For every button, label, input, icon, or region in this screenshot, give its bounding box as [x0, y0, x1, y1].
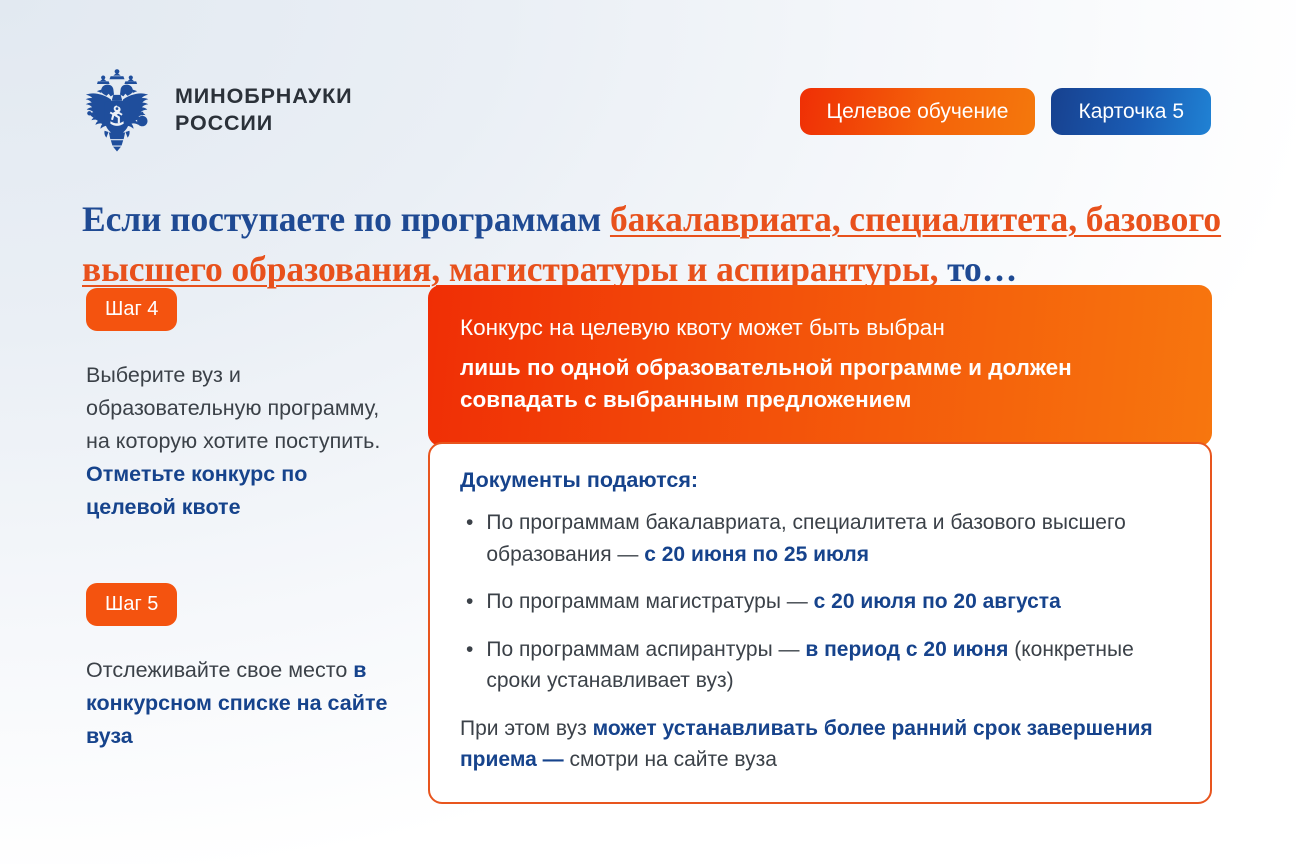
list-item-bold: с 20 июля по 20 августа	[814, 590, 1061, 613]
list-item-text: По программам бакалавриата, специалитета…	[486, 507, 1180, 570]
list-item-text: По программам магистратуры — с 20 июля п…	[486, 586, 1060, 618]
step-5-block: Шаг 5 Отслеживайте свое место в конкурсн…	[86, 583, 391, 753]
documents-footer: При этом вуз может устанавливать более р…	[460, 713, 1180, 776]
step-4-badge: Шаг 4	[86, 288, 177, 331]
list-item-bold: в период с 20 июня	[805, 638, 1008, 661]
steps-column: Шаг 4 Выберите вуз и образовательную про…	[86, 288, 391, 753]
step-4-text: Выберите вуз и образовательную программу…	[86, 359, 391, 523]
list-item: • По программам бакалавриата, специалите…	[466, 507, 1180, 570]
step-4-text-plain: Выберите вуз и образовательную программу…	[86, 363, 380, 453]
step-4-block: Шаг 4 Выберите вуз и образовательную про…	[86, 288, 391, 523]
ministry-logo: МИНОБРНАУКИ РОССИИ	[80, 66, 353, 154]
header-badges: Целевое обучение Карточка 5	[800, 88, 1211, 135]
footer-tail: смотри на сайте вуза	[564, 748, 777, 771]
list-item: • По программам аспирантуры — в период с…	[466, 634, 1180, 697]
documents-box: Документы подаются: • По программам бака…	[428, 442, 1212, 804]
page-title: Если поступаете по программам бакалавриа…	[82, 194, 1222, 295]
russian-coat-of-arms-icon	[80, 66, 154, 154]
title-part-1: Если поступаете по программам	[82, 199, 610, 239]
header: МИНОБРНАУКИ РОССИИ Целевое обучение Карт…	[0, 0, 1296, 165]
callout-lead: Конкурс на целевую квоту может быть выбр…	[460, 312, 1180, 344]
ministry-name: МИНОБРНАУКИ РОССИИ	[175, 83, 353, 137]
quota-callout: Конкурс на целевую квоту может быть выбр…	[428, 285, 1212, 446]
card-number-badge[interactable]: Карточка 5	[1051, 88, 1211, 135]
step-5-badge: Шаг 5	[86, 583, 177, 626]
topic-badge[interactable]: Целевое обучение	[800, 88, 1036, 135]
step-5-text-plain: Отслеживайте свое место	[86, 658, 353, 682]
bullet-icon: •	[466, 586, 473, 618]
bullet-icon: •	[466, 634, 473, 697]
callout-strong: лишь по одной образовательной программе …	[460, 352, 1180, 416]
list-item-text: По программам аспирантуры — в период с 2…	[486, 634, 1180, 697]
bullet-icon: •	[466, 507, 473, 570]
title-part-2: то…	[938, 249, 1017, 289]
list-item-bold: с 20 июня по 25 июля	[644, 543, 869, 566]
list-item-plain: По программам магистратуры —	[486, 590, 813, 613]
step-4-text-bold: Отметьте конкурс по целевой квоте	[86, 462, 307, 519]
footer-plain: При этом вуз	[460, 717, 593, 740]
infographic-card: МИНОБРНАУКИ РОССИИ Целевое обучение Карт…	[0, 0, 1296, 864]
list-item: • По программам магистратуры — с 20 июля…	[466, 586, 1180, 618]
step-5-text: Отслеживайте свое место в конкурсном спи…	[86, 654, 391, 753]
documents-title: Документы подаются:	[460, 468, 1180, 493]
list-item-plain: По программам аспирантуры —	[486, 638, 805, 661]
